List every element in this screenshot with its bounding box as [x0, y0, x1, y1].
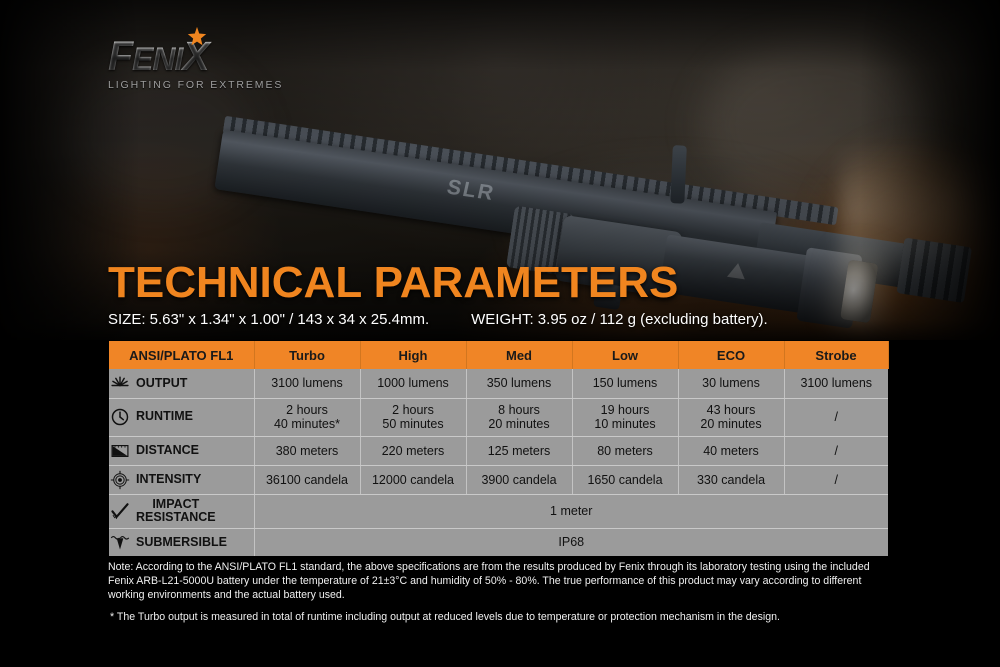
column-header-eco: ECO	[678, 341, 784, 369]
row-label-submersible: SUBMERSIBLE	[136, 536, 227, 549]
cell-runtime-med: 8 hours 20 minutes	[466, 398, 572, 436]
cell-intensity-high: 12000 candela	[360, 465, 466, 494]
row-label-impact-resistance: IMPACT RESISTANCE	[136, 498, 216, 524]
cell-runtime-low: 19 hours 10 minutes	[572, 398, 678, 436]
beam-distance-icon	[109, 441, 131, 461]
column-header-med: Med	[466, 341, 572, 369]
note-main: Note: According to the ANSI/PLATO FL1 st…	[108, 561, 898, 603]
cell-runtime-turbo: 2 hours 40 minutes*	[254, 398, 360, 436]
fenix-tagline: LIGHTING FOR EXTREMES	[108, 79, 288, 91]
cell-intensity-low: 1650 candela	[572, 465, 678, 494]
column-header-standard: ANSI/PLATO FL1	[109, 341, 254, 369]
column-header-turbo: Turbo	[254, 341, 360, 369]
table-row: DISTANCE 380 meters 220 meters 125 meter…	[109, 436, 888, 465]
product-spec-banner: SLR FENIX LIGHTING FOR EXTREMES TECHNICA…	[0, 0, 1000, 667]
fenix-logo: FENIX LIGHTING FOR EXTREMES	[108, 36, 288, 91]
row-label-distance: DISTANCE	[136, 444, 199, 457]
fenix-wordmark-f: F	[108, 33, 132, 79]
table-header-row: ANSI/PLATO FL1 Turbo High Med Low ECO St…	[109, 341, 888, 369]
table-row: SUBMERSIBLE IP68	[109, 528, 888, 556]
fenix-wordmark: FENIX	[108, 36, 288, 77]
row-header-impact-resistance: IMPACT RESISTANCE	[109, 494, 254, 528]
row-header-distance: DISTANCE	[109, 436, 254, 465]
cell-runtime-strobe: /	[784, 398, 888, 436]
page-title: TECHNICAL PARAMETERS	[108, 258, 678, 308]
weight-text: WEIGHT: 3.95 oz / 112 g (excluding batte…	[471, 311, 768, 328]
cell-distance-low: 80 meters	[572, 436, 678, 465]
star-icon	[186, 26, 208, 48]
table-row: OUTPUT 3100 lumens 1000 lumens 350 lumen…	[109, 369, 888, 398]
cell-intensity-strobe: /	[784, 465, 888, 494]
submersible-icon	[109, 532, 131, 552]
size-weight-line: SIZE: 5.63" x 1.34" x 1.00" / 143 x 34 x…	[108, 311, 768, 328]
table-row: IMPACT RESISTANCE 1 meter	[109, 494, 888, 528]
row-header-intensity: INTENSITY	[109, 465, 254, 494]
cell-output-eco: 30 lumens	[678, 369, 784, 398]
impact-label-line2: RESISTANCE	[136, 510, 216, 524]
row-label-runtime: RUNTIME	[136, 410, 193, 423]
row-header-runtime: RUNTIME	[109, 398, 254, 436]
cell-distance-eco: 40 meters	[678, 436, 784, 465]
cell-distance-med: 125 meters	[466, 436, 572, 465]
row-header-submersible: SUBMERSIBLE	[109, 528, 254, 556]
cell-output-strobe: 3100 lumens	[784, 369, 888, 398]
column-header-low: Low	[572, 341, 678, 369]
fenix-wordmark-eni: ENI	[132, 41, 182, 77]
cell-runtime-high: 2 hours 50 minutes	[360, 398, 466, 436]
size-text: SIZE: 5.63" x 1.34" x 1.00" / 143 x 34 x…	[108, 311, 429, 328]
cell-impact-resistance-value: 1 meter	[254, 494, 888, 528]
impact-resistance-icon	[109, 501, 131, 521]
table-row: RUNTIME 2 hours 40 minutes* 2 hours 50 m…	[109, 398, 888, 436]
cell-submersible-value: IP68	[254, 528, 888, 556]
row-label-intensity: INTENSITY	[136, 473, 201, 486]
specifications-table-wrapper: ANSI/PLATO FL1 Turbo High Med Low ECO St…	[109, 341, 888, 556]
cell-output-low: 150 lumens	[572, 369, 678, 398]
cell-output-med: 350 lumens	[466, 369, 572, 398]
impact-label-line1: IMPACT	[152, 497, 199, 511]
cell-intensity-turbo: 36100 candela	[254, 465, 360, 494]
row-label-output: OUTPUT	[136, 377, 187, 390]
cell-distance-turbo: 380 meters	[254, 436, 360, 465]
cell-intensity-eco: 330 candela	[678, 465, 784, 494]
column-header-high: High	[360, 341, 466, 369]
table-row: INTENSITY 36100 candela 12000 candela 39…	[109, 465, 888, 494]
clock-icon	[109, 407, 131, 427]
cell-output-turbo: 3100 lumens	[254, 369, 360, 398]
cell-intensity-med: 3900 candela	[466, 465, 572, 494]
cell-runtime-eco: 43 hours 20 minutes	[678, 398, 784, 436]
cell-distance-strobe: /	[784, 436, 888, 465]
note-footnote: * The Turbo output is measured in total …	[110, 611, 900, 623]
column-header-strobe: Strobe	[784, 341, 888, 369]
cell-output-high: 1000 lumens	[360, 369, 466, 398]
cell-distance-high: 220 meters	[360, 436, 466, 465]
output-burst-icon	[109, 373, 131, 393]
intensity-target-icon	[109, 470, 131, 490]
specifications-table: ANSI/PLATO FL1 Turbo High Med Low ECO St…	[109, 341, 889, 556]
row-header-output: OUTPUT	[109, 369, 254, 398]
